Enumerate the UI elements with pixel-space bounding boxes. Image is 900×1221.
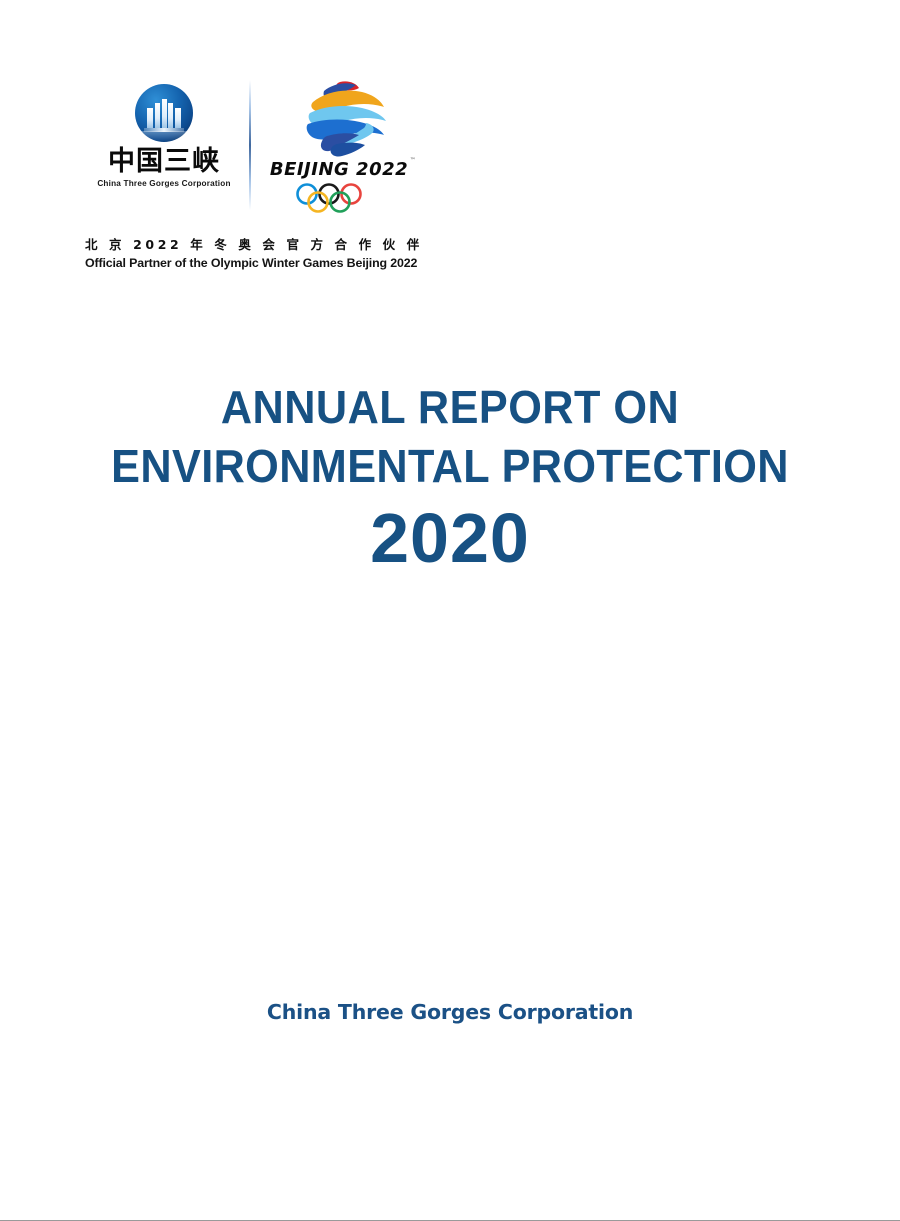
title-line-1: ANNUAL REPORT ON: [27, 378, 873, 437]
title-line-2: ENVIRONMENTAL PROTECTION: [27, 437, 873, 496]
china-three-gorges-emblem-icon: [135, 84, 193, 142]
partner-line-english: Official Partner of the Olympic Winter G…: [85, 256, 415, 270]
beijing-2022-logo: BEIJING 2022 ™: [265, 78, 413, 213]
beijing-2022-wordmark-text: BEIJING 2022: [270, 159, 408, 180]
beijing-2022-emblem-icon: [280, 78, 398, 158]
cover-title-block: ANNUAL REPORT ON ENVIRONMENTAL PROTECTIO…: [0, 378, 900, 575]
organization-name: China Three Gorges Corporation: [0, 1000, 900, 1024]
china-three-gorges-logo: 中国三峡 China Three Gorges Corporation: [89, 84, 239, 188]
partner-line-chinese: 北 京 2022 年 冬 奥 会 官 方 合 作 伙 伴: [85, 234, 415, 253]
trademark-icon: ™: [410, 157, 417, 164]
logo-divider: [249, 80, 251, 210]
report-cover-page: 中国三峡 China Three Gorges Corporation: [0, 0, 900, 1221]
beijing-2022-wordmark: BEIJING 2022 ™: [270, 159, 408, 180]
ctg-english-wordmark: China Three Gorges Corporation: [89, 179, 239, 188]
olympic-rings-icon: [265, 183, 413, 213]
title-year: 2020: [0, 502, 900, 576]
logo-row: 中国三峡 China Three Gorges Corporation: [85, 78, 415, 218]
ctg-chinese-wordmark: 中国三峡: [89, 148, 239, 176]
logo-band: 中国三峡 China Three Gorges Corporation: [85, 78, 415, 273]
